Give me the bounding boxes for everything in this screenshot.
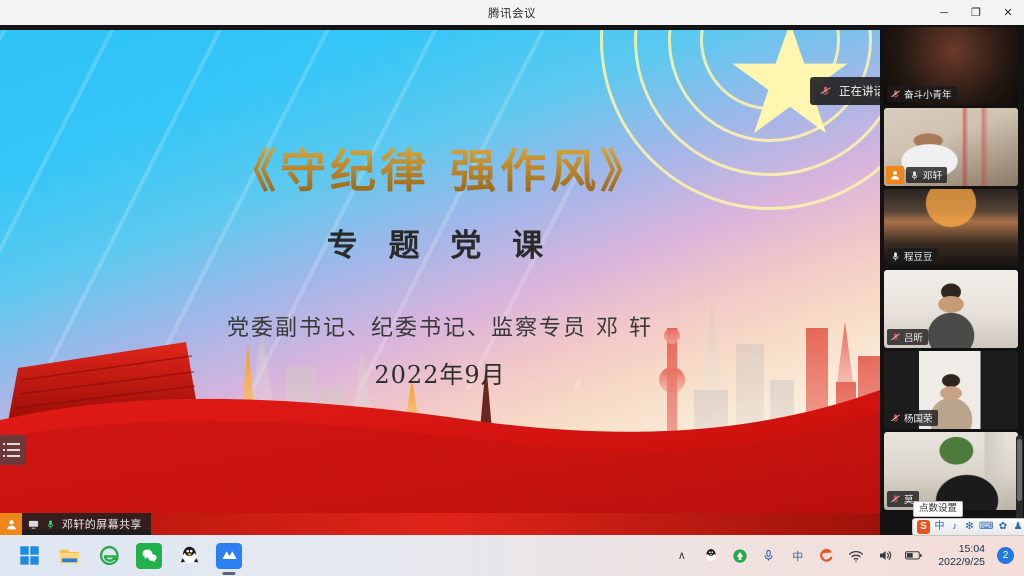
tencent-meeting-icon[interactable] — [216, 543, 242, 569]
sogou-logo-icon[interactable]: S — [917, 520, 930, 534]
notification-badge[interactable]: 2 — [997, 547, 1014, 564]
host-icon — [0, 513, 22, 535]
monitor-icon — [28, 519, 39, 530]
ime-toolbox-icon[interactable]: ♟ — [1012, 520, 1023, 534]
microphone-muted-icon — [890, 332, 901, 343]
participant-name: 程豆豆 — [904, 249, 933, 263]
tray-update-icon[interactable] — [731, 547, 748, 564]
ime-emoji-icon[interactable]: ✿ — [997, 520, 1008, 534]
ime-punctuation-icon[interactable]: ♪ — [949, 520, 960, 534]
tray-chevron-up-icon[interactable]: ∧ — [673, 547, 690, 564]
slide-subtitle: 专 题 党 课 — [0, 220, 880, 265]
window-titlebar: 腾讯会议 ─ ❐ ✕ — [0, 0, 1024, 25]
start-button[interactable] — [16, 543, 42, 569]
maximize-button[interactable]: ❐ — [960, 0, 992, 25]
close-button[interactable]: ✕ — [992, 0, 1024, 25]
presentation-slide: 《守纪律 强作风》 专 题 党 课 党委副书记、纪委书记、监察专员 邓 轩 20… — [0, 30, 880, 530]
microphone-muted-icon — [890, 494, 901, 505]
tray-wifi-icon[interactable] — [847, 547, 864, 564]
tencent-meeting-window: 腾讯会议 ─ ❐ ✕ — [0, 0, 1024, 576]
participant-nametag: 程豆豆 — [887, 248, 938, 264]
internet-explorer-icon[interactable] — [96, 543, 122, 569]
participant-name: 吕昕 — [904, 330, 923, 344]
participant-rail[interactable]: 奋斗小青年 邓轩 — [880, 25, 1024, 535]
windows-taskbar: ∧ — [0, 535, 1024, 576]
microphone-muted-icon — [890, 413, 901, 424]
sharebar-fill — [151, 513, 880, 535]
participant-tile[interactable]: 邓轩 — [884, 108, 1018, 186]
microphone-icon — [890, 251, 901, 262]
screen-share-label: 邓轩的屏幕共享 — [62, 516, 142, 532]
tray-volume-icon[interactable] — [876, 547, 893, 564]
qq-icon[interactable] — [176, 543, 202, 569]
participant-nametag: 邓轩 — [906, 167, 947, 183]
window-title: 腾讯会议 — [0, 5, 1024, 21]
screen-share-statusbar: 邓轩的屏幕共享 — [0, 513, 880, 535]
slide-title: 《守纪律 强作风》 — [0, 135, 880, 201]
taskbar-tray: ∧ — [673, 543, 1024, 569]
participant-rail-scrollbar[interactable] — [1016, 435, 1023, 525]
minimize-button[interactable]: ─ — [928, 0, 960, 25]
taskbar-clock[interactable]: 15:04 2022/9/25 — [934, 543, 985, 569]
wechat-icon[interactable] — [136, 543, 162, 569]
scrollbar-thumb[interactable] — [1017, 439, 1022, 501]
participant-name: 邓轩 — [923, 168, 942, 182]
microphone-muted-icon — [890, 89, 901, 100]
participant-nametag: 吕昕 — [887, 329, 928, 345]
tray-sogou-icon[interactable] — [818, 547, 835, 564]
taskbar-apps — [0, 543, 242, 569]
microphone-icon — [45, 519, 56, 530]
participant-tile[interactable]: 程豆豆 — [884, 189, 1018, 267]
city-skyline-decoration — [0, 270, 880, 530]
participant-name: 奋斗小青年 — [904, 87, 952, 101]
tray-battery-icon[interactable] — [905, 547, 922, 564]
video-feed-detail — [884, 108, 1018, 186]
slide-date: 2022年9月 — [0, 355, 880, 390]
ime-keyboard-icon[interactable]: ⌨ — [979, 520, 993, 534]
tray-ime-mode-icon[interactable]: 中 — [789, 547, 806, 564]
speaking-toast-label: 正在讲话: 邓轩; 程豆豆; — [839, 83, 880, 99]
slide-presenter: 党委副书记、纪委书记、监察专员 邓 轩 — [0, 310, 880, 342]
speaking-icon — [819, 85, 832, 98]
clock-date: 2022/9/25 — [938, 556, 985, 569]
host-badge — [886, 166, 904, 184]
collapse-panel-handle[interactable] — [0, 435, 26, 465]
screen-share-chip[interactable]: 邓轩的屏幕共享 — [22, 513, 151, 535]
ime-mode-icon[interactable]: 中 — [934, 520, 945, 534]
participant-nametag: 奋斗小青年 — [887, 86, 957, 102]
participant-tile[interactable]: 杨国荣 — [884, 351, 1018, 429]
microphone-icon — [909, 170, 920, 181]
ime-skin-icon[interactable]: ❇ — [964, 520, 975, 534]
tray-microphone-icon[interactable] — [760, 547, 777, 564]
participant-nametag: 杨国荣 — [887, 410, 938, 426]
window-controls: ─ ❐ ✕ — [928, 0, 1024, 25]
file-explorer-icon[interactable] — [56, 543, 82, 569]
shared-screen-stage[interactable]: 《守纪律 强作风》 专 题 党 课 党委副书记、纪委书记、监察专员 邓 轩 20… — [0, 25, 880, 535]
tray-qq-icon[interactable] — [702, 547, 719, 564]
sogou-ime-toolbar[interactable]: S 中 ♪ ❇ ⌨ ✿ ♟ 🔧 — [912, 518, 1024, 536]
participant-tile[interactable]: 奋斗小青年 — [884, 27, 1018, 105]
speaking-toast: 正在讲话: 邓轩; 程豆豆; — [810, 77, 880, 105]
participant-tile[interactable]: 吕昕 — [884, 270, 1018, 348]
participant-name: 杨国荣 — [904, 411, 933, 425]
participant-tile[interactable]: 莫 — [884, 432, 1018, 510]
clock-time: 15:04 — [938, 543, 985, 556]
ime-tooltip: 点数设置 — [913, 501, 963, 517]
